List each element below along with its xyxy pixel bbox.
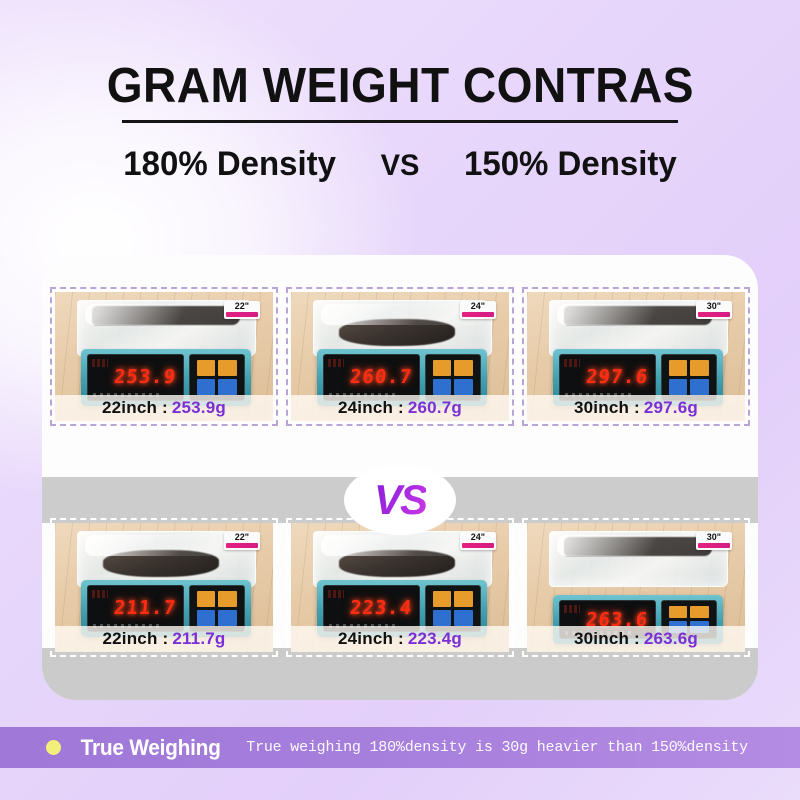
keypad-key — [433, 360, 452, 376]
keypad-key — [454, 591, 473, 607]
cell-caption: 24inch : 260.7g — [291, 395, 509, 421]
size-tag: 24" — [460, 301, 496, 319]
size-tag-strip — [226, 543, 258, 548]
cell-caption: 22inch : 253.9g — [55, 395, 273, 421]
size-tag-text: 24" — [462, 533, 494, 542]
led-weight-readout: 260.7 — [349, 366, 414, 388]
page-header: GRAM WEIGHT CONTRAS 180% Density VS 150%… — [0, 0, 800, 184]
caption-length-label: 24inch : — [338, 398, 404, 418]
keypad-key — [454, 610, 473, 626]
product-cell[interactable]: 24" 260.7 24inch : 260.7 — [286, 287, 514, 426]
density-left-label: 180% Density — [123, 145, 336, 184]
size-tag: 24" — [460, 532, 496, 550]
keypad-key — [197, 379, 216, 395]
keypad-key — [669, 379, 688, 395]
scale-keypad — [425, 585, 482, 632]
led-weight-readout: 211.7 — [113, 597, 178, 619]
bullet-dot-icon — [46, 740, 61, 755]
led-display-panel: 260.7 — [323, 354, 419, 401]
size-tag: 30" — [696, 532, 732, 550]
keypad-key — [669, 360, 688, 376]
scale-keypad — [189, 354, 246, 401]
keypad-key — [454, 379, 473, 395]
size-tag-strip — [462, 543, 494, 548]
footer-bar: True Weighing True weighing 180%density … — [0, 727, 800, 768]
keypad-key — [690, 606, 709, 618]
led-display-panel: 253.9 — [87, 354, 183, 401]
size-tag: 22" — [224, 301, 260, 319]
keypad-key — [218, 591, 237, 607]
keypad-key — [218, 360, 237, 376]
scale-keypad — [425, 354, 482, 401]
vs-badge-label: VS — [374, 476, 426, 524]
keypad-key — [454, 360, 473, 376]
size-tag-text: 22" — [226, 533, 258, 542]
caption-length-label: 30inch : — [574, 398, 640, 418]
keypad-key — [218, 610, 237, 626]
size-tag-text: 30" — [698, 533, 730, 542]
subtitle-vs-label: VS — [381, 149, 420, 183]
keypad-key — [669, 606, 688, 618]
led-weight-readout: 253.9 — [113, 366, 178, 388]
scale-keypad — [661, 354, 718, 401]
caption-length-label: 24inch : — [338, 629, 404, 649]
keypad-key — [433, 379, 452, 395]
product-cell[interactable]: 22" 253.9 22inch : 253.9 — [50, 287, 278, 426]
size-tag: 30" — [696, 301, 732, 319]
size-tag: 22" — [224, 532, 260, 550]
footer-title: True Weighing — [81, 735, 221, 761]
cell-caption: 24inch : 223.4g — [291, 626, 509, 652]
vs-divider-badge: VS — [344, 465, 456, 535]
product-cell[interactable]: 24" 223.4 24inch : 223.4 — [286, 518, 514, 657]
caption-weight-value: 253.9g — [172, 398, 226, 418]
cell-caption: 30inch : 263.6g — [527, 626, 745, 652]
product-cell[interactable]: 30" 297.6 30inch : 297.6 — [522, 287, 750, 426]
size-tag-text: 22" — [226, 302, 258, 311]
scale-keypad — [189, 585, 246, 632]
caption-weight-value: 263.6g — [644, 629, 698, 649]
size-tag-strip — [462, 312, 494, 317]
keypad-key — [197, 360, 216, 376]
caption-length-label: 22inch : — [102, 398, 168, 418]
product-cell[interactable]: 30" 263.6 30inch : 263.6 — [522, 518, 750, 657]
bottom-row-150-density: 22" 211.7 22inch : 211.7 — [42, 518, 758, 657]
keypad-key — [433, 610, 452, 626]
comparison-card: 22" 253.9 22inch : 253.9 — [42, 255, 758, 700]
keypad-key — [218, 379, 237, 395]
led-weight-readout: 297.6 — [585, 366, 650, 388]
subtitle: 180% Density VS 150% Density — [12, 145, 788, 184]
keypad-key — [197, 610, 216, 626]
caption-weight-value: 297.6g — [644, 398, 698, 418]
led-weight-readout: 223.4 — [349, 597, 414, 619]
cell-caption: 22inch : 211.7g — [55, 626, 273, 652]
led-display-panel: 297.6 — [559, 354, 655, 401]
led-display-panel: 211.7 — [87, 585, 183, 632]
title-underline — [122, 120, 678, 123]
page-title: GRAM WEIGHT CONTRAS — [106, 58, 693, 114]
cell-caption: 30inch : 297.6g — [527, 395, 745, 421]
caption-length-label: 30inch : — [574, 629, 640, 649]
caption-length-label: 22inch : — [102, 629, 168, 649]
size-tag-strip — [698, 543, 730, 548]
size-tag-text: 24" — [462, 302, 494, 311]
keypad-key — [433, 591, 452, 607]
caption-weight-value: 211.7g — [172, 629, 225, 649]
product-cell[interactable]: 22" 211.7 22inch : 211.7 — [50, 518, 278, 657]
footer-note: True weighing 180%density is 30g heavier… — [246, 739, 748, 756]
density-right-label: 150% Density — [464, 145, 677, 184]
caption-weight-value: 223.4g — [408, 629, 462, 649]
keypad-key — [690, 360, 709, 376]
size-tag-strip — [698, 312, 730, 317]
keypad-key — [690, 379, 709, 395]
size-tag-strip — [226, 312, 258, 317]
keypad-key — [197, 591, 216, 607]
led-display-panel: 223.4 — [323, 585, 419, 632]
top-row-180-density: 22" 253.9 22inch : 253.9 — [42, 287, 758, 426]
size-tag-text: 30" — [698, 302, 730, 311]
caption-weight-value: 260.7g — [408, 398, 462, 418]
